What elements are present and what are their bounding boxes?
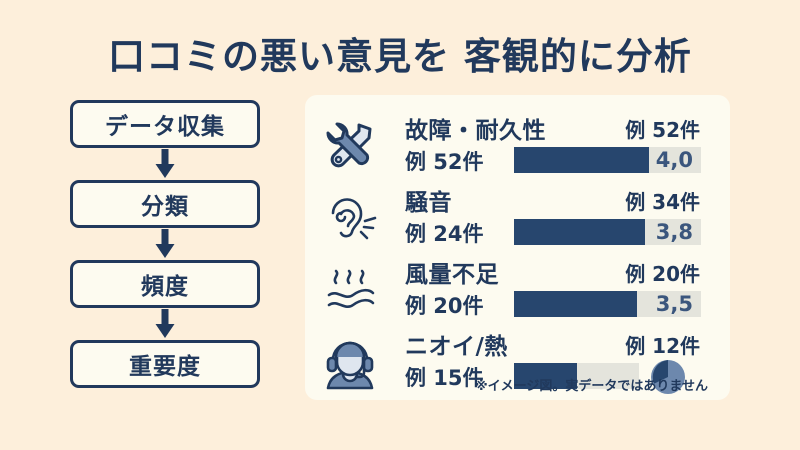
ear-listening-icon [319,187,381,249]
bar-value: 3,5 [656,291,693,317]
row-title: 故障・耐久性 [405,111,546,145]
row-count-left: 例 52件 [405,146,484,176]
arrow-down-icon [154,229,176,259]
flow-arrow-1 [70,148,260,180]
bar-track: 3,8 [514,219,701,245]
row-bar: 3,8 [514,219,701,245]
row-bar: 3,5 [514,291,701,317]
arrow-down-icon [154,149,176,179]
flow-step-label: 重要度 [129,347,201,381]
row-count-left: 例 20件 [405,290,484,320]
tools-wrench-screwdriver-icon [319,115,381,177]
flow-step-label: データ収集 [105,107,225,141]
flow-step-4[interactable]: 重要度 [70,340,260,388]
arrow-down-icon [154,309,176,339]
row-title: 騒音 [405,183,452,217]
flow-step-label: 頻度 [141,267,189,301]
row-count-right: 例 34件 [625,186,700,215]
flow-arrow-2 [70,228,260,260]
page-title: 口コミの悪い意見を 客観的に分析 [0,26,800,80]
analysis-row[interactable]: 風量不足 例 20件 例 20件 3,5 [305,253,730,325]
row-count-right: 例 52件 [625,114,700,143]
row-count-right: 例 20件 [625,258,700,287]
row-count-right: 例 12件 [625,330,700,359]
flow-step-1[interactable]: データ収集 [70,100,260,148]
bar-fill [514,291,637,317]
row-title: ニオイ/熱 [405,327,508,361]
person-headset-icon [319,331,381,393]
bar-value: 3,8 [656,219,693,245]
row-bar: 4,0 [514,147,701,173]
bar-fill [514,147,649,173]
flow-step-2[interactable]: 分類 [70,180,260,228]
bar-track: 4,0 [514,147,701,173]
footnote: ※イメージ図。実データではありません [475,375,708,394]
row-count-left: 例 24件 [405,218,484,248]
flow-step-label: 分類 [141,187,189,221]
analysis-card: 故障・耐久性 例 52件 例 52件 4,0 騒音 [305,95,730,400]
bar-value: 4,0 [656,147,693,173]
process-flowchart: データ収集 分類 頻度 重要度 [70,100,260,390]
airflow-heat-waves-icon [319,259,381,321]
analysis-row[interactable]: 騒音 例 34件 例 24件 3,8 [305,181,730,253]
analysis-row[interactable]: 故障・耐久性 例 52件 例 52件 4,0 [305,109,730,181]
bar-track: 3,5 [514,291,701,317]
row-title: 風量不足 [405,255,499,289]
bar-fill [514,219,645,245]
row-count-left: 例 15件 [405,362,484,392]
flow-step-3[interactable]: 頻度 [70,260,260,308]
flow-arrow-3 [70,308,260,340]
